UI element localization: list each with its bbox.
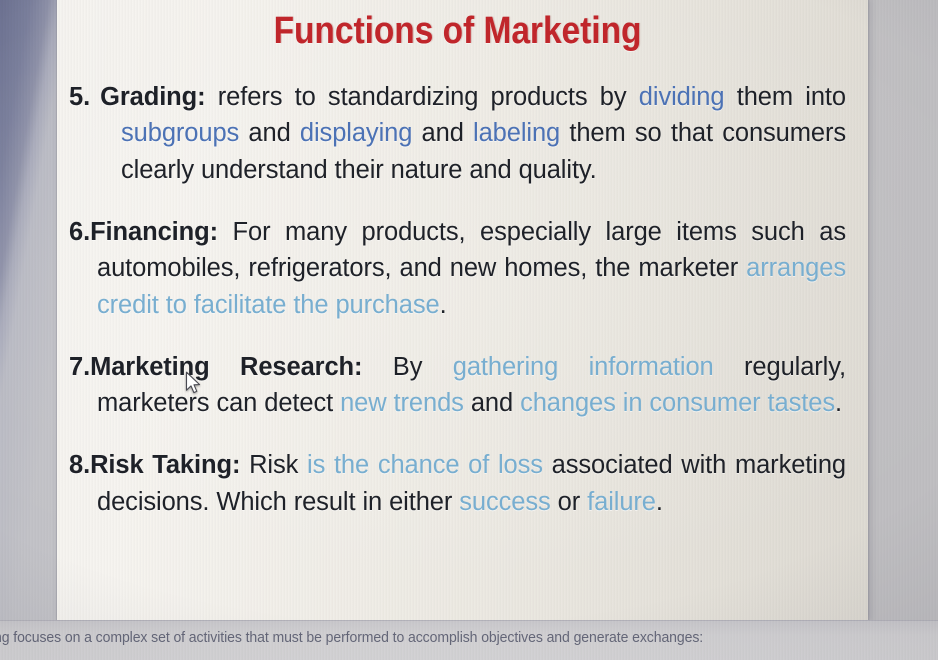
bottom-caption-strip: ng focuses on a complex set of activitie…: [0, 620, 938, 660]
list-item-grading: 5.Grading: refers to standardizing produ…: [69, 79, 846, 189]
list-item-financing: 6.Financing: For many products, especial…: [69, 214, 846, 324]
list-item-text: .: [656, 488, 663, 516]
highlight-gathering-information: gathering information: [453, 353, 714, 381]
list-item-lead: Grading:: [100, 83, 205, 111]
slide-body-list: 5.Grading: refers to standardizing produ…: [63, 79, 852, 521]
highlight-new-trends: new trends: [340, 389, 464, 417]
presentation-slide: Functions of Marketing 5.Grading: refers…: [57, 0, 868, 620]
highlight-failure: failure: [587, 488, 656, 516]
list-item-number: 5.: [69, 83, 90, 111]
slide-title: Functions of Marketing: [110, 9, 804, 53]
highlight-subgroups: subgroups: [121, 119, 239, 147]
list-item-risk-taking: 8.Risk Taking: Risk is the chance of los…: [69, 447, 846, 520]
list-item-text: and: [412, 119, 473, 147]
list-item-text: them into: [724, 83, 846, 111]
highlight-changes-consumer-tastes: changes in consumer tastes: [520, 389, 835, 417]
list-item-text: .: [835, 389, 842, 417]
list-item-text: .: [440, 291, 447, 319]
highlight-labeling: labeling: [473, 119, 560, 147]
list-item-text: or: [551, 488, 587, 516]
list-item-marketing-research: 7.Marketing Research: By gathering infor…: [69, 349, 846, 422]
list-item-lead: Financing:: [90, 218, 218, 246]
list-item-text: and: [239, 119, 300, 147]
bottom-caption-text: ng focuses on a complex set of activitie…: [0, 630, 703, 646]
list-item-lead: Risk Taking:: [90, 451, 240, 479]
list-item-lead: Marketing Research:: [90, 353, 362, 381]
list-item-text: refers to standardizing products by: [206, 83, 639, 111]
list-item-text: Risk: [240, 451, 307, 479]
list-item-number: 6.: [69, 218, 90, 246]
list-item-number: 8.: [69, 451, 90, 479]
list-item-text: and: [464, 389, 520, 417]
highlight-dividing: dividing: [639, 83, 725, 111]
list-item-number: 7.: [69, 353, 90, 381]
highlight-chance-of-loss: is the chance of loss: [307, 451, 543, 479]
list-item-text: By: [362, 353, 452, 381]
highlight-success: success: [459, 488, 550, 516]
projected-slide-photo: Functions of Marketing 5.Grading: refers…: [0, 0, 938, 660]
highlight-displaying: displaying: [300, 119, 412, 147]
